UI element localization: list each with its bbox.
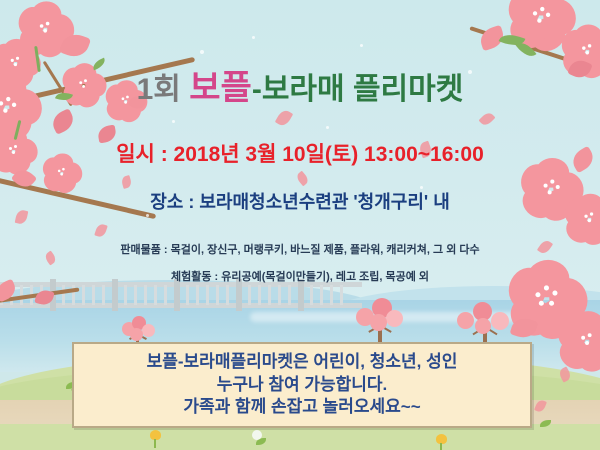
sparkle <box>360 44 363 47</box>
railing-baluster <box>330 285 333 305</box>
railing-baluster <box>164 285 167 305</box>
notice-line-2: 누구나 참여 가능합니다. <box>217 374 388 397</box>
railing-baluster <box>144 285 147 305</box>
sparkle <box>252 36 255 39</box>
tulip-stem <box>440 443 442 450</box>
blossom-cluster <box>370 314 387 331</box>
notice-box: 보플-보라매플리마켓은 어린이, 청소년, 성인 누구나 참여 가능합니다. 가… <box>72 342 532 428</box>
title-rest: -보라매 플리마켓 <box>252 73 464 106</box>
sparkle <box>326 126 329 129</box>
activity-line: 체험활동 : 유리공예(목걸이만들기), 레고 조립, 목공예 외 <box>0 268 600 284</box>
poster-canvas: 1회 보플-보라매 플리마켓 일시 : 2018년 3월 10일(토) 13:0… <box>0 0 600 450</box>
bridge-railing <box>0 282 362 310</box>
blossom-cluster <box>457 312 474 329</box>
railing-baluster <box>288 285 291 305</box>
blossom-cluster <box>130 328 143 341</box>
title-brand: 보플 <box>189 69 252 107</box>
railing-baluster <box>310 285 313 305</box>
railing-baluster <box>186 285 189 305</box>
railing-baluster <box>320 285 323 305</box>
sparkle <box>146 214 149 217</box>
railing-baluster <box>82 285 85 305</box>
railing-baluster <box>340 285 343 305</box>
railing-baluster <box>134 285 137 305</box>
railing-baluster <box>216 285 219 305</box>
sparkle <box>172 120 175 123</box>
railing-baluster <box>62 285 65 305</box>
blossom-cluster <box>491 312 509 330</box>
dandelion-puff <box>252 430 262 440</box>
title-ordinal: 1회 <box>137 73 181 106</box>
railing-baluster <box>226 285 229 305</box>
railing-baluster <box>248 285 251 305</box>
event-date-line: 일시 : 2018년 3월 10일(토) 13:00~16:00 <box>0 138 600 168</box>
railing-baluster <box>278 285 281 305</box>
event-place-line: 장소 : 보라매청소년수련관 '청개구리' 내 <box>0 188 600 214</box>
notice-line-3: 가족과 함께 손잡고 놀러오세요~~ <box>183 396 420 419</box>
railing-baluster <box>102 285 105 305</box>
railing-baluster <box>206 285 209 305</box>
sale-items-line: 판매물품 : 목걸이, 장신구, 머랭쿠키, 바느질 제품, 플라워, 캐리커쳐… <box>0 241 600 257</box>
railing-baluster <box>124 285 127 305</box>
blossom-cluster <box>386 310 403 327</box>
cherry-blossom <box>559 311 600 371</box>
sparkle <box>200 50 204 54</box>
tulip-stem <box>154 439 156 448</box>
blossom-cluster <box>475 318 491 334</box>
railing-baluster <box>154 285 157 305</box>
railing-baluster <box>196 285 199 305</box>
railing-baluster <box>268 285 271 305</box>
blossom-cluster <box>142 324 155 337</box>
railing-baluster <box>92 285 95 305</box>
notice-line-1: 보플-보라매플리마켓은 어린이, 청소년, 성인 <box>147 351 458 374</box>
railing-baluster <box>258 285 261 305</box>
poster-title: 1회 보플-보라매 플리마켓 <box>0 60 600 109</box>
